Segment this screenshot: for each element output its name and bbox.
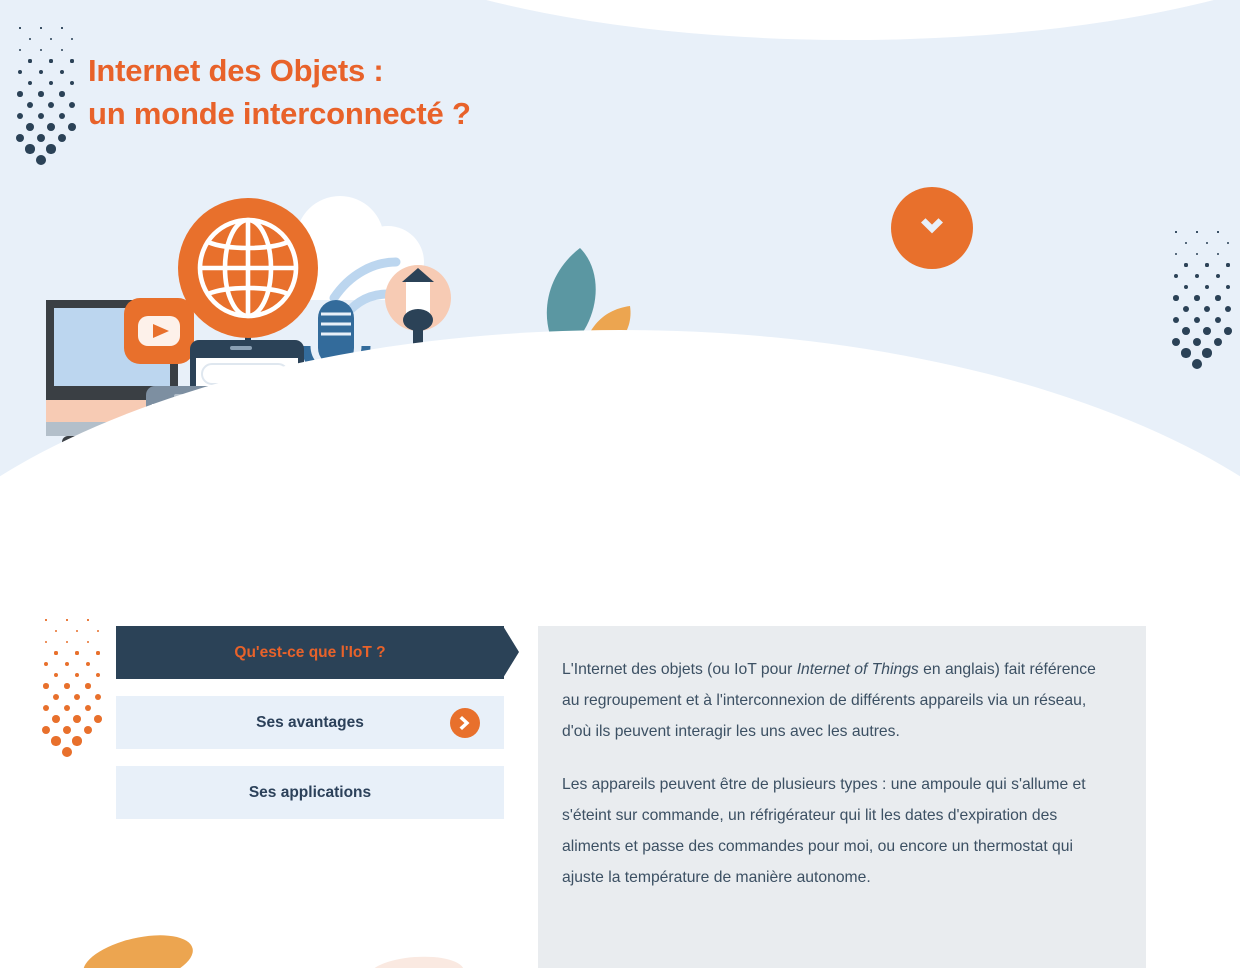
tab-label: Ses applications bbox=[249, 784, 371, 802]
youtube-play-icon bbox=[124, 298, 194, 364]
dot-pattern-navy-right bbox=[1170, 232, 1230, 382]
content-section: Qu'est-ce que l'IoT ? Ses avantages Ses … bbox=[0, 600, 1240, 968]
dot-pattern-orange bbox=[40, 620, 100, 770]
page-root: Internet des Objets : un monde interconn… bbox=[0, 0, 1240, 968]
scroll-down-button[interactable] bbox=[891, 187, 973, 269]
tab-label: Qu'est-ce que l'IoT ? bbox=[234, 644, 385, 662]
tab-active-pointer bbox=[503, 626, 519, 678]
globe-icon bbox=[178, 198, 318, 364]
paragraph-definition: L'Internet des objets (ou IoT pour Inter… bbox=[562, 654, 1104, 747]
content-panel: L'Internet des objets (ou IoT pour Inter… bbox=[538, 626, 1146, 968]
tab-ses-applications[interactable]: Ses applications bbox=[116, 766, 504, 819]
paragraph-examples: Les appareils peuvent être de plusieurs … bbox=[562, 769, 1104, 893]
hero-section: Internet des Objets : un monde interconn… bbox=[0, 0, 1240, 600]
paragraph-italic-term: Internet of Things bbox=[797, 661, 919, 678]
chevron-down-icon bbox=[912, 208, 952, 248]
page-title: Internet des Objets : un monde interconn… bbox=[88, 50, 471, 136]
tab-ses-avantages[interactable]: Ses avantages bbox=[116, 696, 504, 749]
paragraph-text-before: L'Internet des objets (ou IoT pour bbox=[562, 661, 797, 678]
dot-pattern-navy-left bbox=[14, 28, 74, 178]
chevron-right-circle-icon bbox=[450, 708, 480, 738]
tab-list: Qu'est-ce que l'IoT ? Ses avantages Ses … bbox=[116, 626, 520, 819]
tab-label: Ses avantages bbox=[256, 714, 364, 732]
tab-quest-ce-que-liot[interactable]: Qu'est-ce que l'IoT ? bbox=[116, 626, 504, 679]
